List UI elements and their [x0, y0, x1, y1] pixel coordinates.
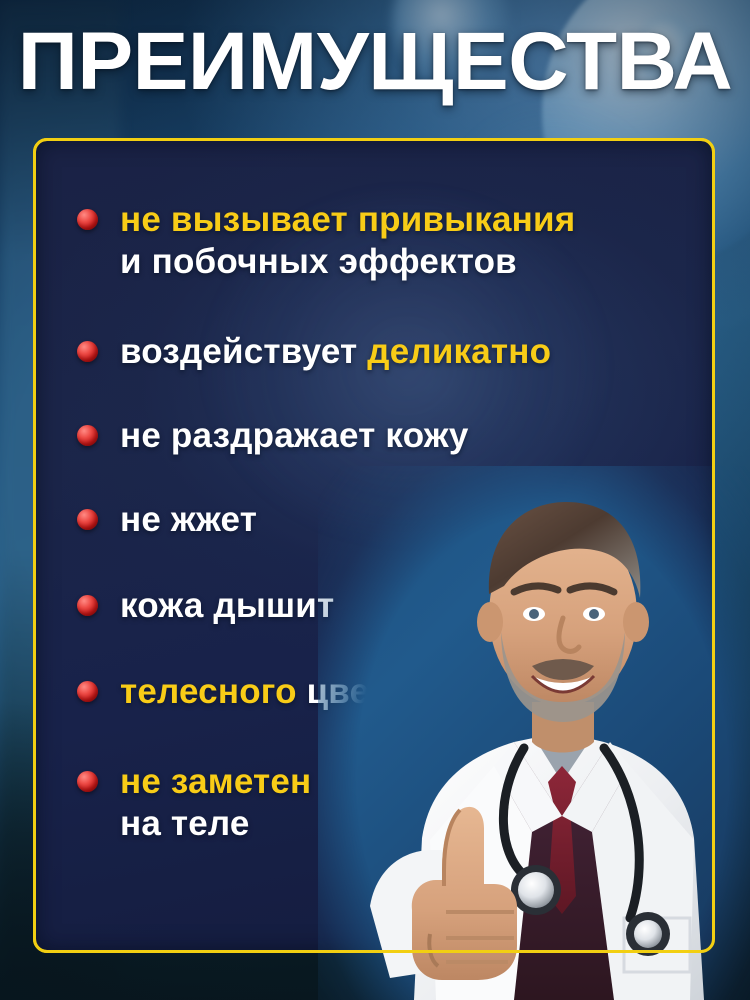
benefit-line-1: воздействует деликатно	[120, 331, 551, 373]
benefit-text: не заметенна теле	[120, 761, 311, 845]
benefit-plain: не раздражает кожу	[120, 416, 469, 455]
ear-left	[477, 602, 503, 642]
benefit-text: воздействует деликатно	[120, 331, 551, 373]
red-sphere-bullet-icon	[77, 509, 98, 530]
benefit-line-2: и побочных эффектов	[120, 241, 575, 283]
page-title: ПРЕИМУЩЕСТВА	[0, 16, 750, 108]
benefit-text: не жжет	[120, 499, 257, 541]
benefit-line-2: на теле	[120, 803, 311, 845]
doctor-illustration	[318, 466, 750, 1000]
red-sphere-bullet-icon	[77, 771, 98, 792]
benefit-line-1: не вызывает привыкания	[120, 199, 575, 241]
red-sphere-bullet-icon	[77, 681, 98, 702]
benefit-highlight: не вызывает привыкания	[120, 200, 575, 239]
benefit-item: не жжет	[77, 499, 257, 541]
benefit-text: не вызывает привыканияи побочных эффекто…	[120, 199, 575, 283]
stethoscope-chestpiece	[518, 872, 554, 908]
red-sphere-bullet-icon	[77, 595, 98, 616]
doctor-photo	[318, 466, 750, 1000]
benefit-item: не раздражает кожу	[77, 415, 469, 457]
poster-root: ПРЕИМУЩЕСТВА не вызывает привыканияи поб…	[0, 0, 750, 1000]
red-sphere-bullet-icon	[77, 209, 98, 230]
ear-right	[623, 602, 649, 642]
benefit-text: кожа дышит	[120, 585, 334, 627]
red-sphere-bullet-icon	[77, 341, 98, 362]
benefit-item: не вызывает привыканияи побочных эффекто…	[77, 199, 575, 283]
benefit-item: воздействует деликатно	[77, 331, 551, 373]
benefit-line-1: не заметен	[120, 761, 311, 803]
benefit-plain: не жжет	[120, 500, 257, 539]
benefit-plain: кожа дышит	[120, 586, 334, 625]
benefit-line-1: кожа дышит	[120, 585, 334, 627]
benefit-item: кожа дышит	[77, 585, 334, 627]
benefit-item: не заметенна теле	[77, 761, 311, 845]
iris-left	[529, 609, 539, 619]
benefit-line-1: не жжет	[120, 499, 257, 541]
benefit-text: не раздражает кожу	[120, 415, 469, 457]
benefit-plain: воздействует	[120, 332, 367, 371]
benefit-line-1: не раздражает кожу	[120, 415, 469, 457]
stethoscope-earpiece-disc	[634, 920, 662, 948]
iris-right	[589, 609, 599, 619]
benefit-highlight: деликатно	[367, 332, 551, 371]
red-sphere-bullet-icon	[77, 425, 98, 446]
benefit-highlight: телесного	[120, 672, 297, 711]
benefit-highlight: не заметен	[120, 762, 311, 801]
benefits-list: не вызывает привыканияи побочных эффекто…	[36, 141, 712, 187]
